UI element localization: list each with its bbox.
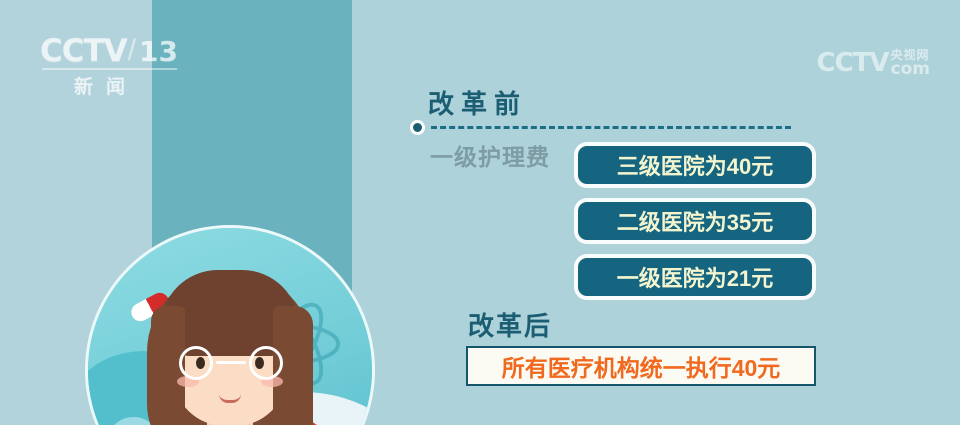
doctor-illustration [85, 225, 375, 425]
after-reform-box: 所有医疗机构统一执行40元 [466, 346, 816, 386]
logo-underline [42, 68, 177, 70]
doctor-figure [125, 254, 335, 425]
broadcast-graphic: CCTV / 13 新闻 CCTV 央视网 com [0, 0, 960, 425]
fee-pill: 一级医院为21元 [578, 258, 812, 296]
heading-before-reform: 改革前 [428, 84, 527, 121]
cctv-com-watermark: CCTV 央视网 com [816, 38, 930, 78]
logo-cctv-text: CCTV [40, 33, 127, 69]
watermark-cctv-text: CCTV [816, 48, 888, 78]
eye-right [255, 357, 264, 369]
fee-pill-label: 二级医院为35元 [617, 205, 773, 237]
glasses-bridge [216, 361, 246, 364]
after-reform-label: 所有医疗机构统一执行40元 [502, 349, 781, 383]
logo-slash: / [128, 34, 136, 68]
cctv13-channel-logo: CCTV / 13 新闻 [40, 34, 220, 92]
info-panel: 改革前 一级护理费 三级医院为40元 二级医院为35元 一级医院为21元 改革后… [404, 78, 944, 408]
fee-pill-label: 三级医院为40元 [617, 149, 773, 181]
watermark-right-group: 央视网 com [891, 49, 930, 78]
fee-item-row: 二级医院为35元 [578, 202, 812, 240]
fee-pill-label: 一级医院为21元 [617, 261, 773, 293]
dashed-divider [431, 126, 791, 129]
heading-after-reform: 改革后 [468, 306, 552, 343]
logo-subtitle: 新闻 [74, 72, 138, 99]
logo-channel-number: 13 [139, 35, 178, 68]
timeline-dot-icon [410, 120, 425, 135]
sub-label-nursing-fee: 一级护理费 [430, 138, 550, 172]
fee-item-row: 一级医院为21元 [578, 258, 812, 296]
fee-pill: 二级医院为35元 [578, 202, 812, 240]
glasses-icon [175, 346, 287, 380]
eye-left [196, 357, 205, 369]
fee-item-row: 三级医院为40元 [578, 146, 812, 184]
logo-row: CCTV / 13 [40, 34, 220, 68]
watermark-com-text: com [891, 61, 930, 78]
fee-pill: 三级医院为40元 [578, 146, 812, 184]
